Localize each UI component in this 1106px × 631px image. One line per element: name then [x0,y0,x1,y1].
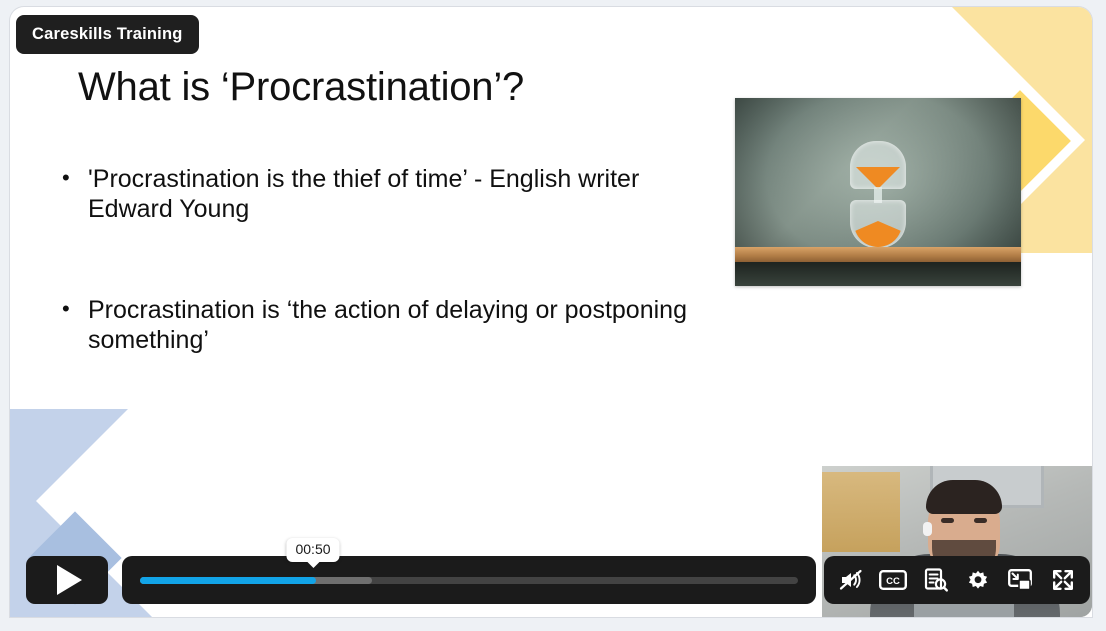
hourglass-image [735,98,1021,286]
play-icon [57,565,82,595]
picture-in-picture-icon[interactable] [1005,565,1035,595]
play-button[interactable] [26,556,108,604]
presenter-earbud [923,522,932,536]
progress-played [140,577,316,584]
decor-blue-triangle-left [10,409,128,531]
player-controls-group[interactable]: CC [824,556,1090,604]
closed-captions-icon[interactable]: CC [878,565,908,595]
cc-label: CC [887,576,901,587]
bullet-text: Procrastination is ‘the action of delayi… [88,296,712,355]
webcam-poster [822,472,900,552]
volume-muted-icon[interactable] [836,565,866,595]
fullscreen-icon[interactable] [1048,565,1078,595]
wooden-shelf [735,247,1021,262]
list-item: • 'Procrastination is the thief of time’… [62,165,712,224]
time-tooltip: 00:50 [286,538,339,562]
hourglass-illustration [850,141,906,248]
presenter-eye-left [941,518,954,523]
slide-title: What is ‘Procrastination’? [78,65,524,110]
progress-scrubber[interactable] [140,577,798,584]
playback-control-bar[interactable] [122,556,816,604]
video-player[interactable]: What is ‘Procrastination’? • 'Procrastin… [0,0,1106,631]
brand-badge: Careskills Training [16,15,199,54]
presenter-eye-right [974,518,987,523]
list-item: • Procrastination is ‘the action of dela… [62,296,712,355]
bullet-text: 'Procrastination is the thief of time’ -… [88,165,712,224]
bullet-marker: • [62,165,88,191]
shelf-shadow [735,262,1021,286]
slide-bullet-list: • 'Procrastination is the thief of time’… [62,165,712,355]
transcript-search-icon[interactable] [921,565,951,595]
bullet-marker: • [62,296,88,322]
settings-gear-icon[interactable] [963,565,993,595]
presenter-hair [926,480,1002,514]
